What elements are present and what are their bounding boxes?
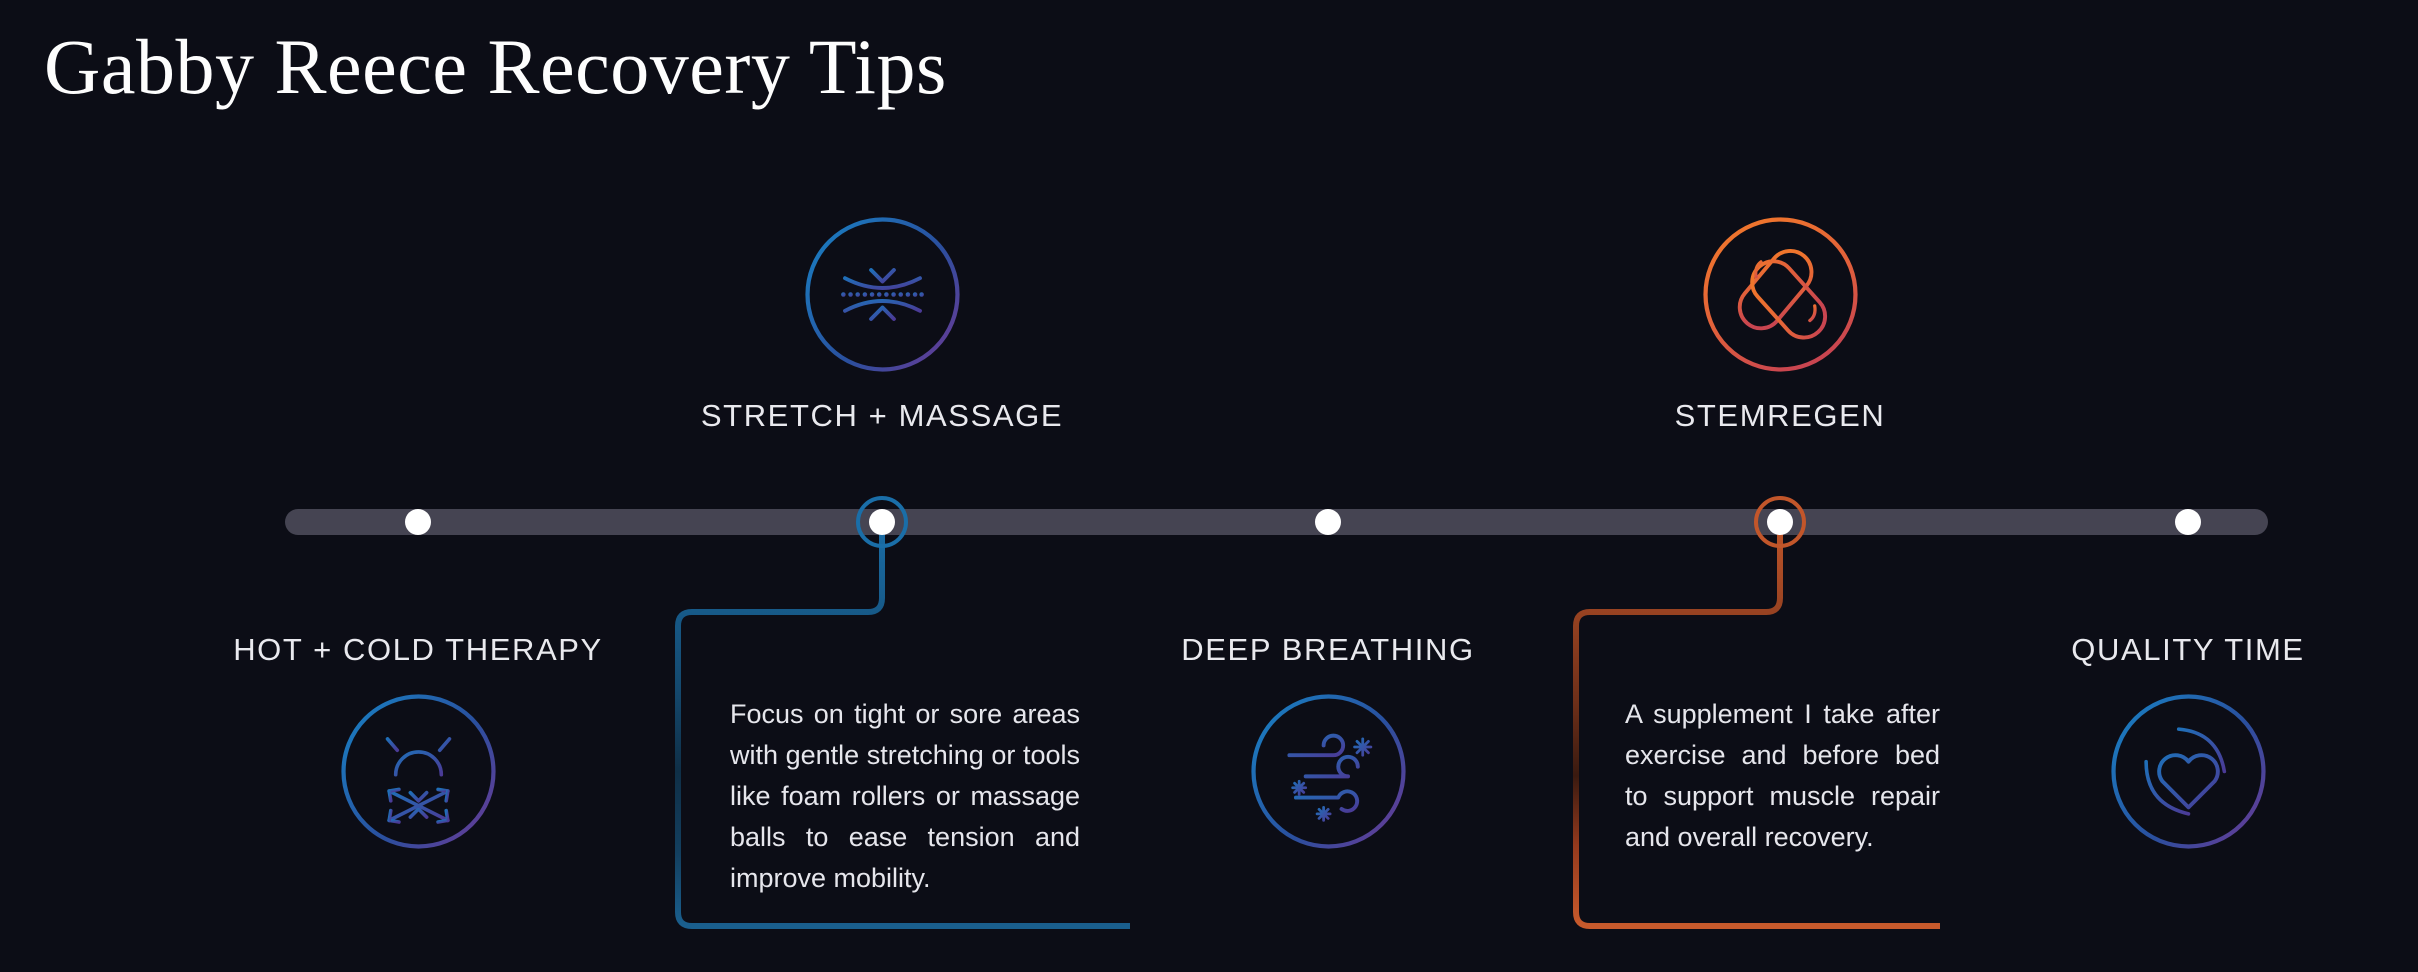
page-title: Gabby Reece Recovery Tips bbox=[44, 22, 947, 112]
timeline-node-label: STEMREGEN bbox=[1550, 398, 2010, 434]
callout-text: A supplement I take after exercise and b… bbox=[1625, 694, 1940, 858]
timeline-node-label: QUALITY TIME bbox=[1958, 632, 2418, 668]
timeline-node-hot-cold-therapy[interactable]: HOT + COLD THERAPY bbox=[188, 632, 648, 853]
timeline-bar[interactable] bbox=[285, 509, 2268, 535]
timeline-dot-deep-breathing[interactable] bbox=[1315, 509, 1341, 535]
capsules-icon bbox=[1699, 213, 1862, 376]
heart-swirl-icon bbox=[2107, 690, 2270, 853]
timeline-dot-quality-time[interactable] bbox=[2175, 509, 2201, 535]
timeline-node-quality-time[interactable]: QUALITY TIME bbox=[1958, 632, 2418, 853]
timeline-node-label: STRETCH + MASSAGE bbox=[652, 398, 1112, 434]
timeline-node-stretch-massage[interactable]: STRETCH + MASSAGE bbox=[652, 213, 1112, 434]
callout-stemregen: A supplement I take after exercise and b… bbox=[1625, 694, 1940, 858]
callout-stretch-massage: Focus on tight or sore areas with gentle… bbox=[730, 694, 1080, 899]
timeline-node-label: HOT + COLD THERAPY bbox=[188, 632, 648, 668]
timeline-dot-hot-cold-therapy[interactable] bbox=[405, 509, 431, 535]
sun-snowflake-icon bbox=[337, 690, 500, 853]
timeline-node-label: DEEP BREATHING bbox=[1098, 632, 1558, 668]
timeline-node-deep-breathing[interactable]: DEEP BREATHING bbox=[1098, 632, 1558, 853]
callout-text: Focus on tight or sore areas with gentle… bbox=[730, 694, 1080, 899]
timeline-dot-stretch-massage[interactable] bbox=[869, 509, 895, 535]
timeline-dot-stemregen[interactable] bbox=[1767, 509, 1793, 535]
timeline-node-stemregen[interactable]: STEMREGEN bbox=[1550, 213, 2010, 434]
compress-arrows-icon bbox=[801, 213, 964, 376]
wind-breath-icon bbox=[1247, 690, 1410, 853]
